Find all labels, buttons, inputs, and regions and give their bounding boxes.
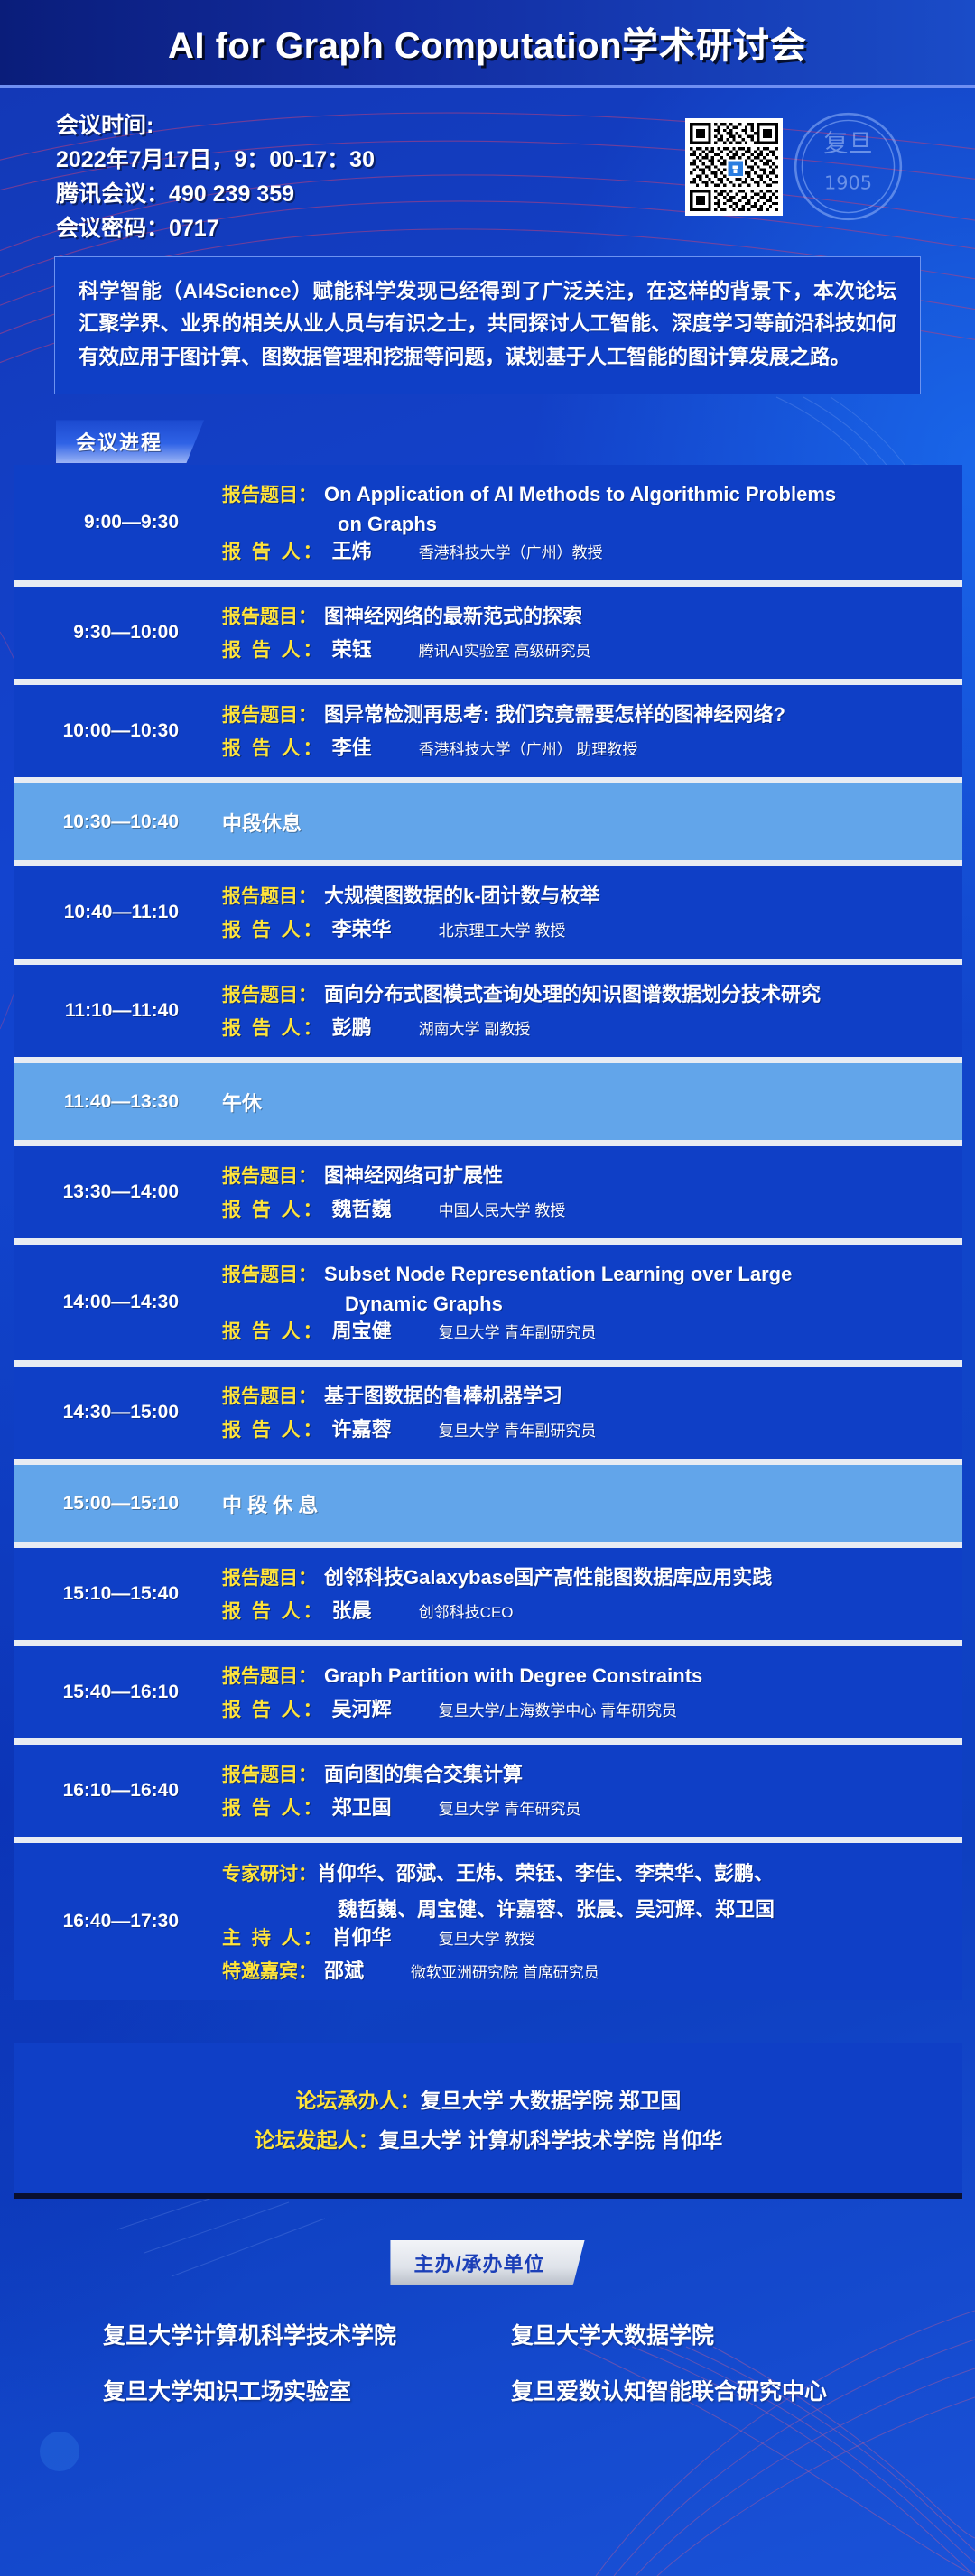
table-row[interactable]: 11:10—11:40 报告题目： 面向分布式图模式查询处理的知识图谱数据划分技… (14, 965, 962, 1063)
row-time: 10:00—10:30 (14, 685, 191, 777)
topic-value: 大规模图数据的k-团计数与枚举 (324, 881, 600, 911)
meeting-time-label: 会议时间: (56, 108, 375, 143)
speaker-name: 王炜 (332, 536, 372, 566)
panel-participants-line1: 肖仰华、邵斌、王炜、荣钰、李佳、李荣华、彭鹏、 (317, 1858, 774, 1890)
topic-label: 报告题目： (222, 1162, 317, 1189)
credit-value: 复旦大学 计算机科学技术学院 肖仰华 (379, 2128, 723, 2152)
row-body: 报告题目： Subset Node Representation Learnin… (191, 1245, 962, 1360)
speaker-label: 报 告 人： (222, 1195, 325, 1222)
credit-key: 论坛承办人： (296, 2089, 421, 2112)
speaker-label: 报 告 人： (222, 1317, 325, 1344)
speaker-name: 吴河辉 (332, 1694, 392, 1724)
sponsors-chip: 主办/承办单位 (390, 2240, 584, 2285)
row-time: 11:10—11:40 (14, 965, 191, 1057)
row-body: 报告题目： 图神经网络可扩展性 报 告 人： 魏哲巍 中国人民大学 教授 (191, 1146, 962, 1238)
table-row[interactable]: 15:10—15:40 报告题目： 创邻科技Galaxybase国产高性能图数据… (14, 1548, 962, 1646)
sponsors-section: 主办/承办单位 复旦大学计算机科学技术学院 复旦大学大数据学院 复旦大学知识工场… (0, 2240, 975, 2439)
row-body: 报告题目： 图异常检测再思考: 我们究竟需要怎样的图神经网络? 报 告 人： 李… (191, 685, 962, 777)
row-time: 15:40—16:10 (14, 1646, 191, 1738)
speaker-label: 报 告 人： (222, 1695, 325, 1722)
row-body: 中 段 休 息 (191, 1465, 962, 1542)
row-body: 专家研讨： 肖仰华、邵斌、王炜、荣钰、李佳、李荣华、彭鹏、 魏哲巍、周宝健、许嘉… (191, 1843, 962, 2000)
topic-value: 面向图的集合交集计算 (324, 1759, 523, 1789)
page-title-en: AI for Graph Computation (168, 26, 622, 66)
speaker-affiliation: 北京理工大学 教授 (439, 918, 566, 941)
speaker-name: 李佳 (332, 733, 372, 763)
row-time: 15:10—15:40 (14, 1548, 191, 1640)
speaker-affiliation: 复旦大学/上海数学中心 青年研究员 (439, 1698, 677, 1720)
speaker-affiliation: 中国人民大学 教授 (439, 1198, 566, 1220)
topic-label: 报告题目： (222, 882, 317, 909)
credit-value: 复旦大学 大数据学院 郑卫国 (421, 2089, 682, 2112)
guest-affiliation: 微软亚洲研究院 首席研究员 (411, 1960, 599, 1982)
speaker-name: 许嘉蓉 (332, 1414, 392, 1444)
list-item: 复旦大学知识工场实验室 (79, 2374, 487, 2406)
speaker-affiliation: 香港科技大学（广州） 助理教授 (419, 737, 638, 759)
topic-label: 报告题目： (222, 1382, 317, 1409)
speaker-name: 荣钰 (332, 635, 372, 664)
schedule-section-header: 会议进程 (56, 420, 975, 456)
row-time: 15:00—15:10 (14, 1465, 191, 1542)
host-name: 肖仰华 (332, 1923, 392, 1952)
organizers-credit-box: 论坛承办人：复旦大学 大数据学院 郑卫国 论坛发起人：复旦大学 计算机科学技术学… (14, 2043, 962, 2199)
table-row[interactable]: 9:30—10:00 报告题目： 图神经网络的最新范式的探索 报 告 人： 荣钰… (14, 587, 962, 685)
speaker-affiliation: 腾讯AI实验室 高级研究员 (419, 638, 591, 661)
row-body: 报告题目： 面向图的集合交集计算 报 告 人： 郑卫国 复旦大学 青年研究员 (191, 1745, 962, 1837)
topic-label: 报告题目： (222, 700, 317, 727)
topic-value: 创邻科技Galaxybase国产高性能图数据库应用实践 (324, 1562, 772, 1592)
speaker-name: 郑卫国 (332, 1793, 392, 1822)
speaker-label: 报 告 人： (222, 1014, 325, 1041)
break-label: 午休 (222, 1088, 262, 1117)
topic-value: Graph Partition with Degree Constraints (324, 1661, 702, 1691)
row-time: 10:30—10:40 (14, 783, 191, 860)
table-row[interactable]: 10:00—10:30 报告题目： 图异常检测再思考: 我们究竟需要怎样的图神经… (14, 685, 962, 783)
speaker-name: 魏哲巍 (332, 1194, 392, 1224)
fudan-university-logo-icon: 复旦 1905 (792, 110, 905, 223)
row-time: 14:30—15:00 (14, 1367, 191, 1459)
panel-label: 专家研讨： (222, 1859, 317, 1886)
break-label: 中 段 休 息 (222, 1489, 318, 1518)
meeting-time-value: 2022年7月17日，9：00-17：30 (56, 143, 375, 177)
table-row[interactable]: 14:00—14:30 报告题目： Subset Node Representa… (14, 1245, 962, 1367)
topic-value: 面向分布式图模式查询处理的知识图谱数据划分技术研究 (324, 979, 821, 1009)
host-label: 主 持 人： (222, 1923, 325, 1951)
topic-label: 报告题目： (222, 1260, 317, 1287)
topic-continuation: Dynamic Graphs (345, 1293, 946, 1316)
panel-participants-line2: 魏哲巍、周宝健、许嘉蓉、张晨、吴河辉、郑卫国 (338, 1894, 946, 1923)
abstract-text: 科学智能（AI4Science）赋能科学发现已经得到了广泛关注，在这样的背景下，… (79, 280, 896, 368)
row-body: 报告题目： Graph Partition with Degree Constr… (191, 1646, 962, 1738)
row-time: 10:40—11:10 (14, 866, 191, 959)
table-row-panel[interactable]: 16:40—17:30 专家研讨： 肖仰华、邵斌、王炜、荣钰、李佳、李荣华、彭鹏… (14, 1843, 962, 2000)
row-time: 13:30—14:00 (14, 1146, 191, 1238)
table-row-break[interactable]: 11:40—13:30 午休 (14, 1063, 962, 1146)
row-time: 9:00—9:30 (14, 465, 191, 580)
speaker-label: 报 告 人： (222, 1415, 325, 1442)
row-time: 16:10—16:40 (14, 1745, 191, 1837)
topic-value: Subset Node Representation Learning over… (324, 1259, 792, 1289)
svg-text:复旦: 复旦 (823, 130, 872, 158)
speaker-label: 报 告 人： (222, 1793, 325, 1821)
topic-value: 图神经网络可扩展性 (324, 1161, 503, 1191)
list-item: 复旦大学大数据学院 (487, 2318, 896, 2350)
table-row-break[interactable]: 10:30—10:40 中段休息 (14, 783, 962, 866)
speaker-affiliation: 香港科技大学（广州）教授 (419, 540, 603, 562)
speaker-name: 李荣华 (332, 914, 392, 944)
credit-key: 论坛发起人： (255, 2128, 379, 2152)
guest-name: 邵斌 (324, 1956, 364, 1986)
topic-value: 图神经网络的最新范式的探索 (324, 601, 582, 631)
row-body: 报告题目： 大规模图数据的k-团计数与枚举 报 告 人： 李荣华 北京理工大学 … (191, 866, 962, 959)
page-title: AI for Graph Computation学术研讨会 (168, 16, 807, 69)
table-row[interactable]: 13:30—14:00 报告题目： 图神经网络可扩展性 报 告 人： 魏哲巍 中… (14, 1146, 962, 1245)
topic-value: 基于图数据的鲁棒机器学习 (324, 1381, 562, 1411)
row-time: 9:30—10:00 (14, 587, 191, 679)
guest-label: 特邀嘉宾： (222, 1957, 317, 1984)
topic-label: 报告题目： (222, 1662, 317, 1689)
table-row[interactable]: 10:40—11:10 报告题目： 大规模图数据的k-团计数与枚举 报 告 人：… (14, 866, 962, 965)
speaker-affiliation: 复旦大学 青年研究员 (439, 1796, 581, 1819)
credit-line: 论坛发起人：复旦大学 计算机科学技术学院 肖仰华 (14, 2123, 962, 2154)
row-body: 报告题目： 基于图数据的鲁棒机器学习 报 告 人： 许嘉蓉 复旦大学 青年副研究… (191, 1367, 962, 1459)
row-time: 16:40—17:30 (14, 1843, 191, 2000)
speaker-affiliation: 复旦大学 青年副研究员 (439, 1418, 597, 1441)
row-body: 报告题目： 面向分布式图模式查询处理的知识图谱数据划分技术研究 报 告 人： 彭… (191, 965, 962, 1057)
topic-value: On Application of AI Methods to Algorith… (324, 479, 836, 509)
topic-label: 报告题目： (222, 602, 317, 629)
list-item: 复旦爱数认知智能联合研究中心 (487, 2374, 896, 2406)
poster-root: AI for Graph Computation学术研讨会 会议时间: 2022… (0, 0, 975, 2439)
row-time: 14:00—14:30 (14, 1245, 191, 1360)
table-row[interactable]: 15:40—16:10 报告题目： Graph Partition with D… (14, 1646, 962, 1745)
page-title-cn: 学术研讨会 (622, 26, 807, 66)
speaker-label: 报 告 人： (222, 734, 325, 761)
speaker-label: 报 告 人： (222, 1597, 325, 1624)
speaker-affiliation: 复旦大学 青年副研究员 (439, 1320, 597, 1342)
row-time: 11:40—13:30 (14, 1063, 191, 1140)
topic-continuation: on Graphs (338, 513, 946, 536)
meeting-info-band: 会议时间: 2022年7月17日，9：00-17：30 腾讯会议：490 239… (0, 88, 975, 251)
table-row[interactable]: 14:30—15:00 报告题目： 基于图数据的鲁棒机器学习 报 告 人： 许嘉… (14, 1367, 962, 1465)
credit-line: 论坛承办人：复旦大学 大数据学院 郑卫国 (14, 2083, 962, 2114)
speaker-name: 周宝健 (332, 1316, 392, 1346)
list-item: 复旦大学计算机科学技术学院 (79, 2318, 487, 2350)
sponsors-grid: 复旦大学计算机科学技术学院 复旦大学大数据学院 复旦大学知识工场实验室 复旦爱数… (0, 2318, 975, 2406)
topic-value: 图异常检测再思考: 我们究竟需要怎样的图神经网络? (324, 700, 785, 729)
row-body: 中段休息 (191, 783, 962, 860)
speaker-label: 报 告 人： (222, 635, 325, 663)
row-body: 午休 (191, 1063, 962, 1140)
topic-label: 报告题目： (222, 1760, 317, 1787)
qr-code-icon[interactable] (685, 118, 783, 216)
speaker-label: 报 告 人： (222, 537, 325, 564)
topic-label: 报告题目： (222, 980, 317, 1007)
table-row-break[interactable]: 15:00—15:10 中 段 休 息 (14, 1465, 962, 1548)
poster-title-bar: AI for Graph Computation学术研讨会 (0, 0, 975, 88)
speaker-affiliation: 创邻科技CEO (419, 1599, 514, 1622)
table-row[interactable]: 9:00—9:30 报告题目： On Application of AI Met… (14, 465, 962, 587)
schedule-section-tag: 会议进程 (56, 420, 204, 463)
speaker-affiliation: 湖南大学 副教授 (419, 1016, 531, 1039)
meeting-platform: 腾讯会议：490 239 359 (56, 177, 375, 211)
row-body: 报告题目： 图神经网络的最新范式的探索 报 告 人： 荣钰 腾讯AI实验室 高级… (191, 587, 962, 679)
break-label: 中段休息 (222, 808, 302, 837)
topic-label: 报告题目： (222, 1563, 317, 1590)
speaker-name: 张晨 (332, 1596, 372, 1626)
svg-text:1905: 1905 (824, 172, 872, 194)
row-body: 报告题目： On Application of AI Methods to Al… (191, 465, 962, 580)
speaker-label: 报 告 人： (222, 915, 325, 942)
row-body: 报告题目： 创邻科技Galaxybase国产高性能图数据库应用实践 报 告 人：… (191, 1548, 962, 1640)
speaker-name: 彭鹏 (332, 1013, 372, 1042)
topic-label: 报告题目： (222, 480, 317, 507)
schedule-table: 9:00—9:30 报告题目： On Application of AI Met… (14, 465, 962, 2000)
host-affiliation: 复旦大学 教授 (439, 1926, 535, 1949)
meeting-password: 会议密码：0717 (56, 211, 375, 246)
meeting-info-text: 会议时间: 2022年7月17日，9：00-17：30 腾讯会议：490 239… (56, 108, 375, 246)
abstract-box: 科学智能（AI4Science）赋能科学发现已经得到了广泛关注，在这样的背景下，… (54, 256, 921, 394)
table-row[interactable]: 16:10—16:40 报告题目： 面向图的集合交集计算 报 告 人： 郑卫国 … (14, 1745, 962, 1843)
